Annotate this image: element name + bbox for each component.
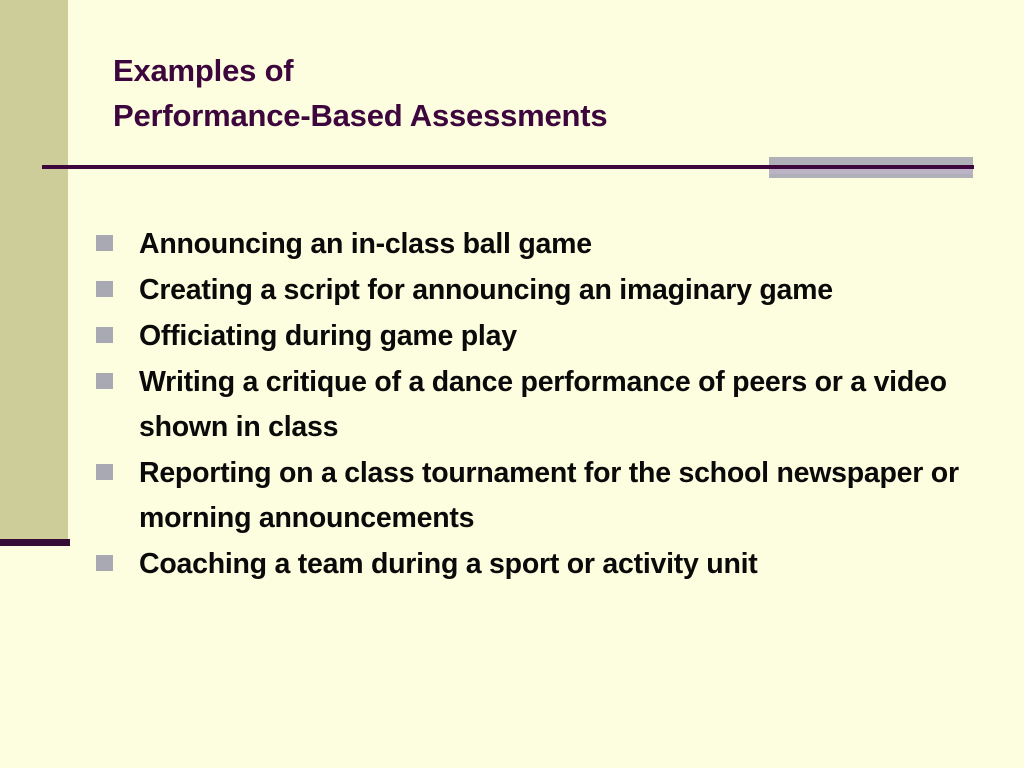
list-item: Coaching a team during a sport or activi… (96, 542, 1006, 587)
list-item-label: Writing a critique of a dance performanc… (139, 360, 1006, 450)
list-item: Reporting on a class tournament for the … (96, 451, 1006, 541)
list-item-label: Coaching a team during a sport or activi… (139, 542, 1006, 587)
list-item-label: Officiating during game play (139, 314, 1006, 359)
square-bullet-icon (96, 235, 113, 251)
title-line-2: Performance-Based Assessments (113, 93, 993, 138)
square-bullet-icon (96, 281, 113, 297)
list-item-label: Announcing an in-class ball game (139, 222, 1006, 267)
list-item-label: Creating a script for announcing an imag… (139, 268, 1006, 313)
list-item: Officiating during game play (96, 314, 1006, 359)
left-band-bottom-rule (0, 539, 70, 546)
square-bullet-icon (96, 327, 113, 343)
header-divider-rule (42, 165, 974, 169)
list-item: Announcing an in-class ball game (96, 222, 1006, 267)
list-item: Creating a script for announcing an imag… (96, 268, 1006, 313)
left-decorative-band (0, 0, 68, 540)
title-line-1: Examples of (113, 48, 993, 93)
bullet-list: Announcing an in-class ball game Creatin… (96, 222, 1006, 588)
slide-canvas: Examples of Performance-Based Assessment… (0, 0, 1024, 768)
list-item: Writing a critique of a dance performanc… (96, 360, 1006, 450)
header-accent-bar-highlight (769, 169, 973, 174)
square-bullet-icon (96, 555, 113, 571)
list-item-label: Reporting on a class tournament for the … (139, 451, 1006, 541)
page-title: Examples of Performance-Based Assessment… (113, 48, 993, 138)
square-bullet-icon (96, 464, 113, 480)
square-bullet-icon (96, 373, 113, 389)
